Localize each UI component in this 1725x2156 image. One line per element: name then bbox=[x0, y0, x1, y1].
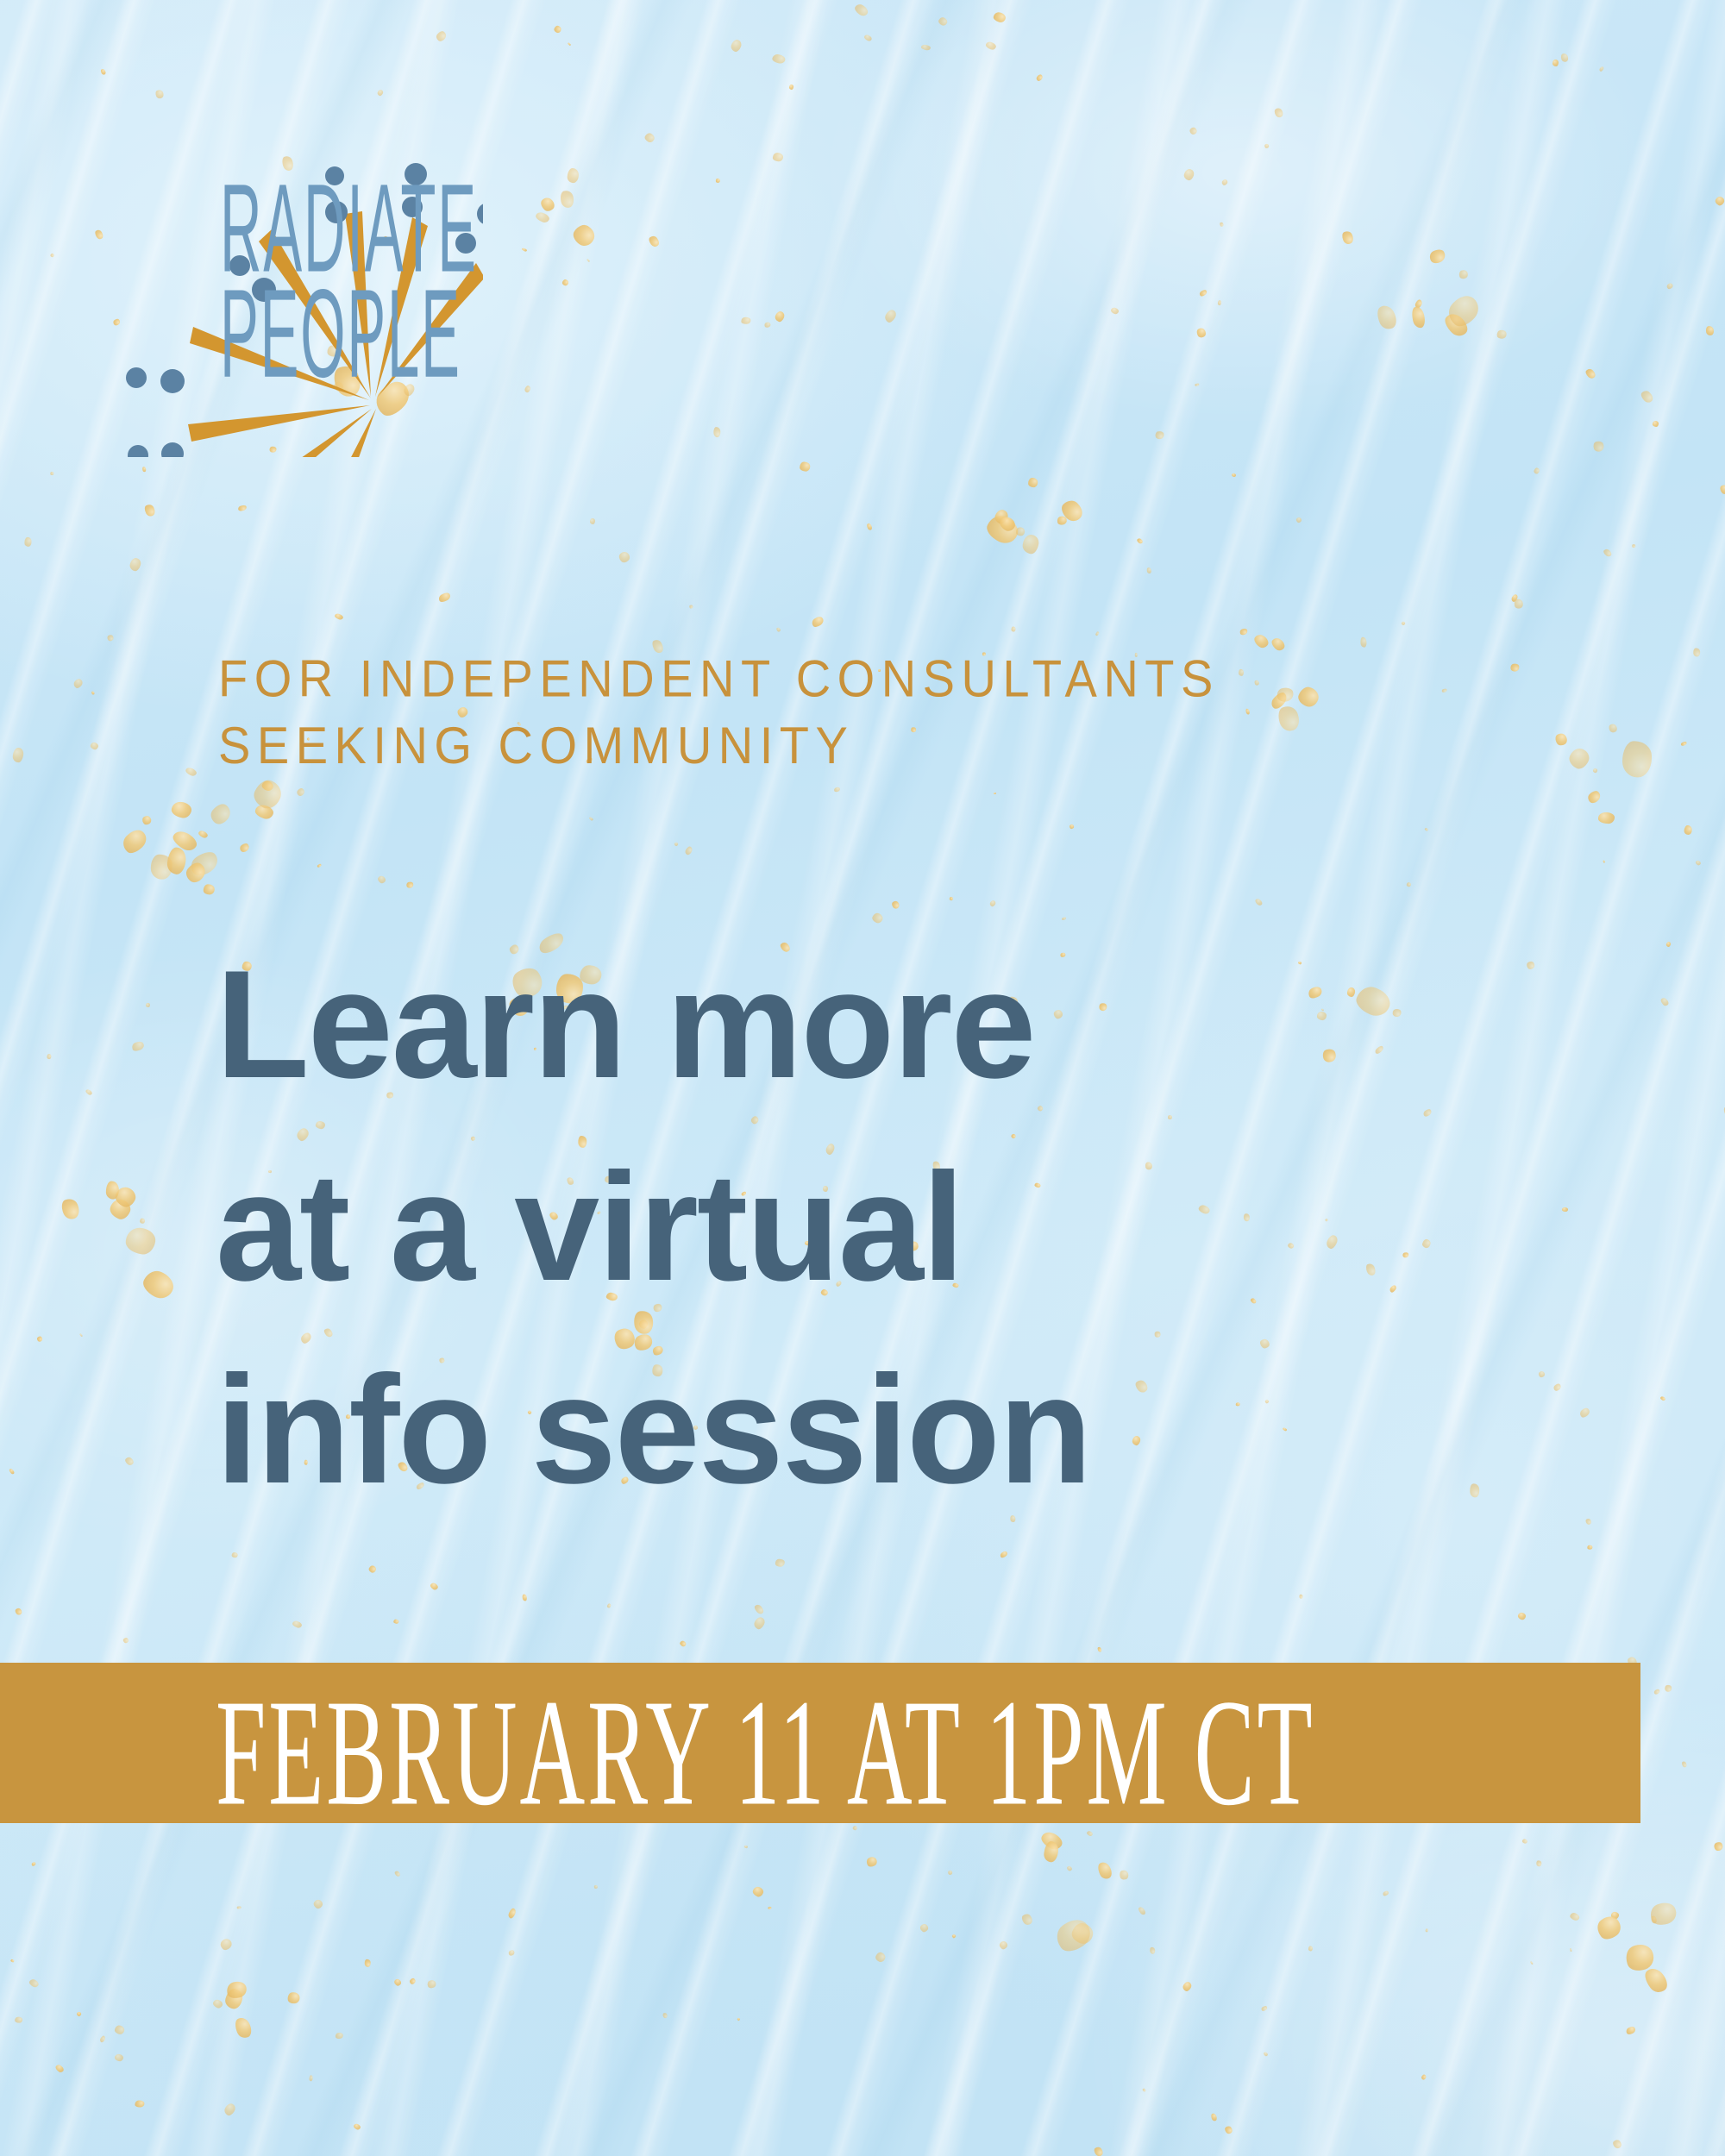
gold-fleck bbox=[119, 825, 150, 856]
gold-fleck bbox=[1593, 440, 1605, 452]
gold-fleck bbox=[674, 842, 679, 847]
gold-fleck bbox=[1593, 1912, 1625, 1944]
gold-fleck bbox=[1610, 1911, 1620, 1920]
gold-fleck bbox=[1521, 1838, 1528, 1844]
gold-fleck bbox=[139, 1267, 178, 1303]
gold-fleck bbox=[438, 592, 452, 605]
gold-fleck bbox=[853, 2, 870, 17]
date-banner: FEBRUARY 11 AT 1PM CT bbox=[0, 1663, 1640, 1823]
gold-fleck bbox=[1552, 60, 1559, 66]
gold-fleck bbox=[28, 1977, 40, 1989]
gold-fleck bbox=[76, 2011, 82, 2017]
gold-fleck bbox=[1095, 631, 1099, 636]
gold-fleck bbox=[834, 787, 841, 793]
gold-fleck bbox=[312, 1898, 324, 1910]
gold-fleck bbox=[1182, 167, 1195, 181]
gold-fleck bbox=[1009, 520, 1014, 527]
gold-fleck bbox=[1195, 327, 1207, 340]
gold-fleck bbox=[1220, 222, 1225, 227]
gold-fleck bbox=[1028, 478, 1038, 487]
gold-fleck bbox=[1653, 1689, 1660, 1695]
gold-fleck bbox=[800, 461, 810, 471]
gold-fleck bbox=[508, 1949, 516, 1957]
gold-fleck bbox=[1570, 1912, 1581, 1921]
gold-fleck bbox=[1182, 1980, 1193, 1992]
gold-fleck bbox=[1578, 1407, 1591, 1419]
gold-fleck bbox=[233, 2015, 254, 2040]
gold-fleck bbox=[1660, 1395, 1666, 1401]
gold-fleck bbox=[788, 85, 793, 91]
gold-fleck bbox=[1058, 497, 1086, 524]
gold-fleck bbox=[123, 1455, 135, 1466]
gold-fleck bbox=[1665, 282, 1673, 290]
gold-fleck bbox=[1308, 1946, 1312, 1952]
gold-fleck bbox=[1019, 1912, 1034, 1927]
gold-fleck bbox=[184, 860, 209, 886]
gold-fleck bbox=[1712, 1840, 1724, 1852]
gold-fleck bbox=[553, 25, 561, 34]
gold-fleck bbox=[59, 1196, 82, 1221]
gold-fleck bbox=[296, 787, 306, 798]
gold-fleck bbox=[114, 2053, 124, 2062]
gold-fleck bbox=[146, 1003, 150, 1007]
gold-fleck bbox=[123, 1225, 157, 1256]
gold-fleck bbox=[950, 896, 954, 899]
gold-fleck bbox=[1264, 143, 1270, 149]
gold-fleck bbox=[335, 613, 344, 621]
gold-fleck bbox=[1401, 621, 1406, 626]
gold-fleck bbox=[1239, 627, 1248, 636]
gold-fleck bbox=[1603, 548, 1614, 558]
gold-fleck bbox=[99, 2035, 106, 2043]
gold-fleck bbox=[568, 42, 571, 46]
gold-fleck bbox=[409, 1977, 417, 1985]
gold-fleck bbox=[1533, 467, 1540, 474]
gold-fleck bbox=[1585, 1518, 1592, 1526]
subtitle: FOR INDEPENDENT CONSULTANTS SEEKING COMM… bbox=[218, 645, 1633, 779]
gold-fleck bbox=[994, 793, 996, 794]
gold-fleck bbox=[689, 605, 693, 609]
gold-fleck bbox=[662, 2012, 668, 2018]
gold-fleck bbox=[1714, 195, 1725, 206]
gold-fleck bbox=[171, 800, 193, 819]
gold-fleck bbox=[1062, 917, 1067, 921]
gold-fleck bbox=[1705, 325, 1715, 335]
gold-fleck bbox=[890, 899, 900, 910]
gold-fleck bbox=[810, 615, 825, 629]
gold-fleck bbox=[1626, 2025, 1637, 2035]
subtitle-line2: SEEKING COMMUNITY bbox=[218, 711, 1633, 778]
gold-fleck bbox=[1340, 229, 1354, 245]
gold-fleck bbox=[1518, 1612, 1527, 1620]
gold-fleck bbox=[1092, 2146, 1104, 2156]
gold-fleck bbox=[775, 1558, 785, 1566]
gold-fleck bbox=[79, 1333, 83, 1337]
headline-line3: info session bbox=[216, 1328, 1561, 1531]
gold-fleck bbox=[154, 89, 165, 100]
gold-fleck bbox=[1199, 289, 1207, 298]
gold-fleck bbox=[1119, 1869, 1129, 1880]
gold-fleck bbox=[1035, 73, 1044, 82]
gold-fleck bbox=[1295, 517, 1302, 523]
gold-fleck bbox=[919, 1922, 930, 1934]
gold-fleck bbox=[1598, 812, 1615, 824]
gold-fleck bbox=[377, 874, 387, 885]
gold-fleck bbox=[998, 1940, 1008, 1951]
gold-fleck bbox=[1011, 626, 1015, 631]
gold-fleck bbox=[774, 310, 786, 323]
gold-fleck bbox=[1513, 599, 1524, 610]
gold-fleck bbox=[151, 855, 173, 880]
gold-fleck bbox=[1263, 2052, 1269, 2058]
gold-fleck bbox=[1681, 740, 1688, 746]
gold-fleck bbox=[1665, 1685, 1672, 1693]
gold-fleck bbox=[393, 1977, 403, 1987]
gold-fleck bbox=[947, 1870, 953, 1876]
gold-fleck bbox=[1510, 593, 1519, 603]
gold-fleck bbox=[1458, 269, 1469, 279]
gold-fleck bbox=[1299, 1595, 1303, 1599]
gold-fleck bbox=[31, 1862, 36, 1867]
gold-fleck bbox=[365, 1959, 371, 1966]
headline-line1: Learn more bbox=[216, 923, 1561, 1125]
gold-fleck bbox=[405, 881, 414, 889]
gold-fleck bbox=[997, 514, 1017, 533]
gold-fleck bbox=[751, 1885, 764, 1898]
gold-fleck bbox=[1051, 1914, 1095, 1957]
gold-fleck bbox=[430, 1582, 439, 1590]
gold-fleck bbox=[237, 505, 247, 512]
gold-fleck bbox=[218, 1937, 234, 1952]
headline-line2: at a virtual bbox=[216, 1125, 1561, 1328]
gold-fleck bbox=[737, 2018, 740, 2021]
gold-fleck bbox=[1640, 389, 1655, 404]
gold-fleck bbox=[1719, 484, 1725, 496]
gold-fleck bbox=[208, 800, 235, 827]
gold-fleck bbox=[772, 152, 783, 161]
gold-fleck bbox=[768, 1907, 772, 1909]
gold-fleck bbox=[1138, 1906, 1147, 1916]
gold-fleck bbox=[1066, 1865, 1073, 1871]
gold-fleck bbox=[1142, 2088, 1146, 2092]
gold-fleck bbox=[1095, 1860, 1113, 1881]
gold-fleck bbox=[435, 29, 448, 42]
gold-fleck bbox=[113, 1184, 139, 1210]
gold-fleck bbox=[1221, 179, 1229, 186]
gold-fleck bbox=[287, 1992, 300, 2005]
gold-fleck bbox=[1260, 2005, 1268, 2012]
gold-fleck bbox=[1043, 1840, 1059, 1862]
gold-fleck bbox=[185, 766, 198, 777]
gold-fleck bbox=[223, 1987, 245, 2010]
gold-fleck bbox=[10, 1959, 15, 1963]
gold-fleck bbox=[920, 44, 931, 51]
gold-fleck bbox=[1680, 1760, 1687, 1768]
gold-fleck bbox=[24, 537, 32, 547]
gold-fleck bbox=[1622, 1941, 1657, 1975]
gold-fleck bbox=[85, 1089, 93, 1097]
gold-fleck bbox=[863, 34, 873, 41]
gold-fleck bbox=[186, 848, 222, 881]
gold-fleck bbox=[1406, 882, 1411, 887]
gold-fleck bbox=[1441, 310, 1471, 341]
gold-fleck bbox=[130, 1040, 145, 1052]
gold-fleck bbox=[367, 1564, 377, 1574]
gold-fleck bbox=[114, 2025, 125, 2035]
gold-fleck bbox=[12, 747, 24, 763]
gold-fleck bbox=[36, 1336, 43, 1343]
gold-fleck bbox=[1097, 1646, 1102, 1652]
gold-fleck bbox=[141, 814, 153, 826]
gold-fleck bbox=[1632, 544, 1636, 548]
gold-fleck bbox=[1425, 1928, 1428, 1933]
gold-fleck bbox=[90, 742, 99, 750]
gold-fleck bbox=[685, 846, 694, 856]
gold-fleck bbox=[1232, 473, 1237, 478]
gold-fleck bbox=[713, 427, 721, 438]
gold-fleck bbox=[1016, 527, 1026, 536]
gold-fleck bbox=[393, 1870, 401, 1877]
gold-fleck bbox=[1156, 430, 1165, 439]
gold-fleck bbox=[983, 511, 1022, 548]
gold-fleck bbox=[1414, 298, 1423, 309]
gold-fleck bbox=[1375, 304, 1400, 332]
gold-fleck bbox=[135, 2101, 144, 2108]
gold-fleck bbox=[100, 68, 107, 76]
gold-fleck bbox=[211, 1998, 223, 2009]
gold-fleck bbox=[1136, 537, 1144, 544]
gold-fleck bbox=[106, 634, 114, 642]
gold-fleck bbox=[1068, 824, 1074, 830]
gold-fleck bbox=[72, 677, 85, 690]
logo: RADIATE PEOPLE bbox=[86, 112, 707, 474]
gold-fleck bbox=[730, 38, 743, 53]
gold-fleck bbox=[1651, 1915, 1658, 1924]
gold-fleck bbox=[590, 518, 595, 524]
gold-fleck bbox=[589, 817, 594, 821]
gold-fleck bbox=[1562, 1207, 1568, 1212]
headline: Learn more at a virtual info session bbox=[216, 923, 1561, 1531]
gold-fleck bbox=[106, 1181, 119, 1200]
gold-fleck bbox=[1695, 859, 1701, 865]
gold-fleck bbox=[776, 627, 781, 632]
gold-fleck bbox=[171, 828, 200, 854]
gold-fleck bbox=[1069, 1921, 1095, 1946]
gold-fleck bbox=[992, 11, 1007, 24]
gold-fleck bbox=[618, 549, 632, 564]
gold-fleck bbox=[1496, 329, 1507, 339]
gold-fleck bbox=[1603, 860, 1605, 863]
gold-fleck bbox=[1149, 1947, 1156, 1955]
gold-fleck bbox=[50, 253, 54, 257]
gold-fleck bbox=[594, 1884, 599, 1889]
gold-fleck bbox=[198, 829, 209, 838]
gold-fleck bbox=[1382, 1890, 1389, 1896]
event-poster: RADIATE PEOPLE FOR INDEPENDENT CONSULTAN… bbox=[0, 0, 1725, 2156]
gold-fleck bbox=[752, 1615, 766, 1631]
gold-fleck bbox=[753, 1602, 765, 1614]
gold-fleck bbox=[317, 863, 323, 868]
gold-fleck bbox=[254, 803, 275, 820]
gold-fleck bbox=[232, 1552, 238, 1558]
gold-fleck bbox=[1217, 300, 1221, 305]
gold-fleck bbox=[335, 2032, 343, 2039]
gold-fleck bbox=[166, 847, 186, 876]
gold-fleck bbox=[237, 1906, 241, 1909]
gold-fleck bbox=[883, 308, 898, 324]
gold-fleck bbox=[50, 472, 53, 475]
gold-fleck bbox=[1410, 305, 1427, 329]
date-banner-text: FEBRUARY 11 AT 1PM CT bbox=[216, 1677, 1314, 1829]
gold-fleck bbox=[203, 884, 215, 895]
gold-fleck bbox=[771, 53, 785, 65]
gold-fleck bbox=[129, 556, 141, 571]
gold-fleck bbox=[741, 317, 751, 323]
gold-fleck bbox=[1536, 1860, 1542, 1867]
gold-fleck bbox=[292, 1620, 303, 1628]
gold-fleck bbox=[427, 1979, 437, 1990]
gold-fleck bbox=[53, 2064, 64, 2074]
gold-fleck bbox=[16, 2017, 23, 2024]
gold-fleck bbox=[140, 1219, 145, 1225]
gold-fleck bbox=[122, 1637, 129, 1644]
gold-fleck bbox=[310, 2075, 313, 2082]
gold-fleck bbox=[377, 90, 384, 97]
gold-fleck bbox=[716, 178, 720, 182]
gold-fleck bbox=[1586, 788, 1603, 805]
gold-fleck bbox=[1693, 648, 1701, 657]
gold-fleck bbox=[993, 508, 1010, 526]
gold-fleck bbox=[874, 1951, 887, 1964]
gold-fleck bbox=[239, 843, 251, 855]
gold-fleck bbox=[1640, 1965, 1671, 1996]
gold-fleck bbox=[985, 41, 997, 50]
gold-fleck bbox=[225, 1979, 248, 2000]
gold-fleck bbox=[679, 1639, 687, 1647]
gold-fleck bbox=[1000, 1550, 1008, 1558]
gold-fleck bbox=[260, 780, 274, 793]
gold-fleck bbox=[1425, 828, 1429, 832]
gold-fleck bbox=[988, 899, 996, 907]
gold-fleck bbox=[744, 1846, 748, 1848]
gold-fleck bbox=[1559, 52, 1569, 62]
gold-fleck bbox=[1421, 2074, 1427, 2080]
gold-fleck bbox=[1569, 1947, 1571, 1952]
subtitle-line1: FOR INDEPENDENT CONSULTANTS bbox=[218, 645, 1633, 711]
gold-fleck bbox=[508, 1908, 517, 1919]
gold-fleck bbox=[1598, 66, 1603, 72]
gold-fleck bbox=[1612, 2138, 1623, 2149]
gold-fleck bbox=[1273, 107, 1284, 119]
gold-fleck bbox=[1444, 291, 1484, 331]
gold-fleck bbox=[9, 1468, 16, 1475]
gold-fleck bbox=[764, 322, 771, 328]
gold-fleck bbox=[223, 2102, 237, 2117]
gold-fleck bbox=[607, 1603, 612, 1608]
gold-fleck bbox=[14, 1607, 22, 1616]
gold-fleck bbox=[865, 1855, 879, 1869]
gold-fleck bbox=[938, 16, 949, 27]
gold-fleck bbox=[1210, 2113, 1218, 2122]
gold-fleck bbox=[1684, 825, 1691, 835]
gold-fleck bbox=[143, 503, 157, 517]
gold-fleck bbox=[1659, 997, 1670, 1007]
gold-fleck bbox=[393, 1619, 399, 1623]
gold-fleck bbox=[1647, 1900, 1678, 1928]
gold-fleck bbox=[1021, 534, 1040, 555]
gold-fleck bbox=[1189, 126, 1198, 135]
gold-fleck bbox=[1223, 2124, 1234, 2135]
gold-fleck bbox=[353, 2122, 361, 2130]
gold-fleck bbox=[1531, 1961, 1534, 1965]
gold-fleck bbox=[1665, 942, 1672, 948]
gold-fleck bbox=[1587, 1545, 1592, 1549]
gold-fleck bbox=[1147, 567, 1152, 574]
gold-fleck bbox=[91, 691, 94, 695]
gold-fleck bbox=[1653, 420, 1659, 426]
logo-wordmark: RADIATE PEOPLE bbox=[220, 176, 510, 387]
gold-fleck bbox=[1584, 367, 1597, 380]
gold-fleck bbox=[951, 1934, 956, 1938]
gold-fleck bbox=[250, 776, 285, 812]
gold-fleck bbox=[1056, 515, 1068, 526]
gold-fleck bbox=[1110, 306, 1120, 315]
gold-fleck bbox=[1428, 248, 1447, 266]
gold-fleck bbox=[1195, 383, 1200, 386]
gold-fleck bbox=[47, 1054, 51, 1060]
gold-fleck bbox=[522, 1595, 528, 1602]
gold-fleck bbox=[1254, 897, 1263, 906]
gold-fleck bbox=[107, 1197, 132, 1222]
gold-fleck bbox=[866, 523, 873, 530]
